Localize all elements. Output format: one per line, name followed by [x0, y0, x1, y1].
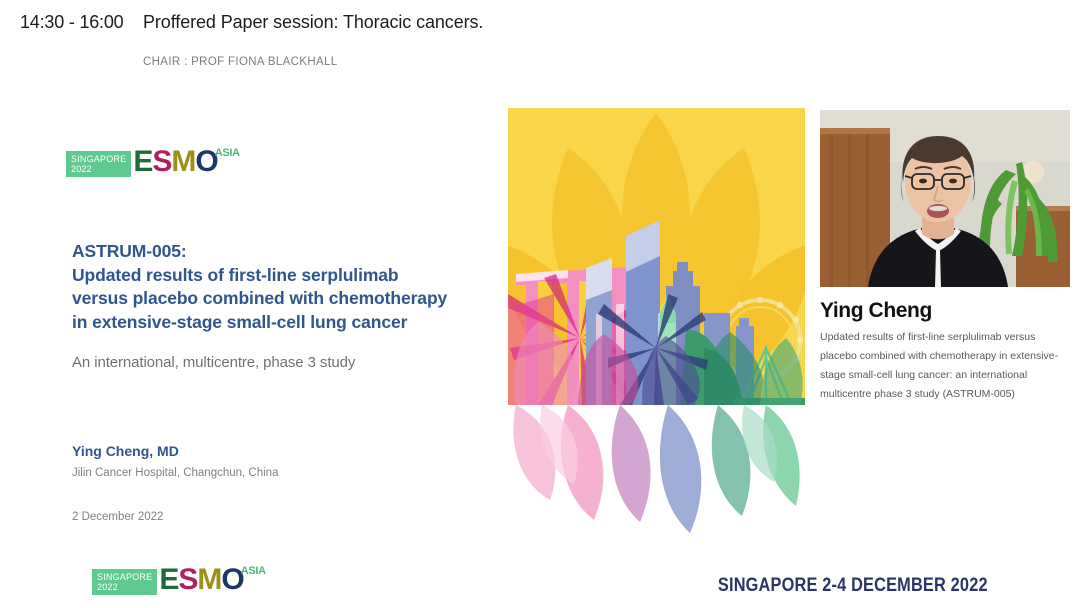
- esmo-bottom-letter-e: E: [159, 565, 178, 595]
- esmo-logo-bottom-singapore-block: SINGAPORE 2022: [92, 569, 157, 595]
- slide-title-line-2: Updated results of first-line serplulima…: [72, 264, 447, 288]
- speaker-description: Updated results of first-line serplulima…: [820, 328, 1064, 404]
- session-title: Proffered Paper session: Thoracic cancer…: [143, 12, 483, 33]
- slide-title: ASTRUM-005: Updated results of first-lin…: [72, 240, 447, 334]
- slide-title-line-1: ASTRUM-005:: [72, 240, 447, 264]
- footer-banner: SINGAPORE 2-4 DECEMBER 2022: [718, 575, 988, 597]
- slide-title-line-3: versus placebo combined with chemotherap…: [72, 287, 447, 311]
- artwork-petals-below: [513, 405, 799, 533]
- esmo-logo-year: 2022: [71, 164, 126, 174]
- esmo-bottom-letter-m: M: [197, 565, 221, 595]
- esmo-logo-bottom: SINGAPORE 2022 E S M O ASIA: [92, 565, 266, 595]
- skyline-illustration-svg: [508, 108, 805, 533]
- session-chair: CHAIR : PROF FIONA BLACKHALL: [143, 56, 338, 68]
- slide-affiliation: Jilin Cancer Hospital, Changchun, China: [72, 467, 278, 479]
- session-time: 14:30 - 16:00: [20, 12, 123, 33]
- esmo-logo-city: SINGAPORE: [71, 154, 126, 164]
- speaker-name: Ying Cheng: [820, 299, 932, 323]
- slide-date: 2 December 2022: [72, 511, 163, 523]
- esmo-letter-m: M: [171, 147, 195, 177]
- esmo-letter-s: S: [152, 147, 171, 177]
- speaker-video-panel[interactable]: [820, 110, 1070, 287]
- esmo-logo-bottom-year: 2022: [97, 582, 152, 592]
- esmo-logo-top: SINGAPORE 2022 E S M O ASIA: [66, 147, 240, 177]
- esmo-logo-singapore-block: SINGAPORE 2022: [66, 151, 131, 177]
- esmo-letter-e: E: [133, 147, 152, 177]
- speaker-webcam-feed: [820, 110, 1070, 287]
- esmo-logo-bottom-wordmark: E S M O: [159, 565, 243, 595]
- esmo-logo-bottom-asia: ASIA: [241, 565, 266, 577]
- esmo-logo-wordmark: E S M O: [133, 147, 217, 177]
- singapore-skyline-artwork: [508, 108, 805, 533]
- presentation-stage: 14:30 - 16:00 Proffered Paper session: T…: [0, 0, 1080, 608]
- slide-title-line-4: in extensive-stage small-cell lung cance…: [72, 311, 447, 335]
- esmo-logo-bottom-city: SINGAPORE: [97, 572, 152, 582]
- esmo-logo-asia: ASIA: [215, 147, 240, 159]
- slide-subtitle: An international, multicentre, phase 3 s…: [72, 354, 355, 371]
- slide-author: Ying Cheng, MD: [72, 443, 179, 459]
- esmo-bottom-letter-s: S: [178, 565, 197, 595]
